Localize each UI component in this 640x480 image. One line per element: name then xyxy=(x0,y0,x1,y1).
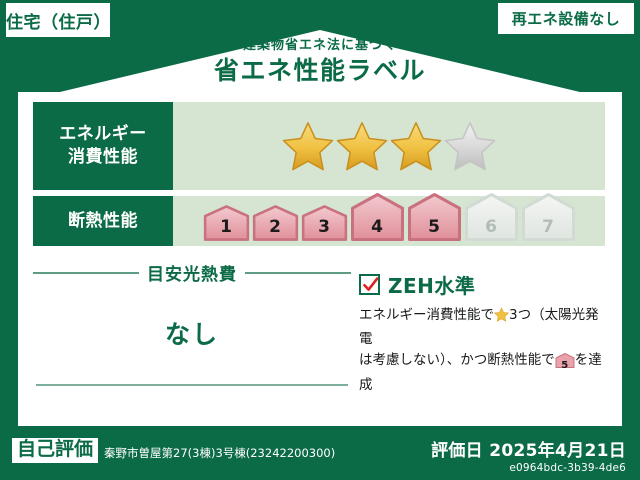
row-insulation-label: 断熱性能 xyxy=(33,196,173,246)
energy-label-root: 住宅（住戸） 再エネ設備なし 建築物省エネ法に基づく 省エネ性能ラベル エネルギ… xyxy=(0,0,640,480)
page-title: 省エネ性能ラベル xyxy=(0,55,640,86)
insulation-level-number: 3 xyxy=(301,217,348,237)
insulation-level-scale: 1234567 xyxy=(203,196,576,246)
utility-cost-heading-text: 目安光熱費 xyxy=(147,260,237,285)
rule-left xyxy=(33,272,139,274)
label-panel: エネルギー 消費性能 断熱性能 1234567 xyxy=(18,92,622,426)
insulation-level-6: 6 xyxy=(464,192,519,242)
zeh-column: ZEH水準 エネルギー消費性能で 3つ（太陽光発電 は考慮しない）、かつ断熱性能… xyxy=(351,256,605,416)
utility-cost-column: 目安光熱費 なし xyxy=(33,256,351,416)
insulation-level-2: 2 xyxy=(252,199,299,242)
zeh-heading: ZEH水準 xyxy=(359,270,605,299)
badge-renewable-equipment: 再エネ設備なし xyxy=(498,3,634,34)
star-filled-icon xyxy=(282,120,334,172)
star-empty-icon xyxy=(444,120,496,172)
insulation-level-number: 2 xyxy=(252,217,299,237)
row-energy-body xyxy=(173,102,605,190)
insulation-level-7: 7 xyxy=(521,192,576,242)
row-insulation-label-line1: 断熱性能 xyxy=(68,210,138,233)
row-energy-performance: エネルギー 消費性能 xyxy=(33,102,605,190)
page-subtitle: 建築物省エネ法に基づく xyxy=(0,38,640,54)
insulation-level-4: 4 xyxy=(350,192,405,242)
zeh-desc-part1: エネルギー消費性能で xyxy=(359,307,494,323)
insulation-level-1: 1 xyxy=(203,199,250,242)
insulation-level-number: 4 xyxy=(350,217,405,237)
insulation-level-3: 3 xyxy=(301,199,348,242)
insulation-level-5: 5 xyxy=(407,192,462,242)
utility-cost-value: なし xyxy=(33,315,351,351)
badge-housing-type: 住宅（住戸） xyxy=(6,3,110,37)
utility-cost-bottom-rule xyxy=(36,384,348,386)
lower-section: 目安光熱費 なし ZEH水準 エネルギー消費性能で xyxy=(33,256,605,416)
footer-right: 評価日 2025年4月21日 e0964bdc-3b39-4de6 xyxy=(431,436,626,474)
building-address: 秦野市曽屋第27(3棟)3号棟(23242200300) xyxy=(104,445,335,463)
row-insulation-performance: 断熱性能 1234567 xyxy=(33,196,605,246)
insulation-level-number: 1 xyxy=(203,217,250,237)
utility-cost-heading: 目安光熱費 xyxy=(33,260,351,285)
self-evaluation-badge: 自己評価 xyxy=(12,438,98,463)
footer: 自己評価 秦野市曽屋第27(3棟)3号棟(23242200300) 評価日 20… xyxy=(0,430,640,480)
evaluation-id: e0964bdc-3b39-4de6 xyxy=(431,462,626,474)
insulation-level-number: 5 xyxy=(407,217,462,237)
zeh-checkbox[interactable] xyxy=(359,274,380,295)
star-filled-icon xyxy=(390,120,442,172)
page-title-block: 建築物省エネ法に基づく 省エネ性能ラベル xyxy=(0,38,640,87)
row-energy-label-line2: 消費性能 xyxy=(68,146,138,169)
star-rating xyxy=(282,120,496,172)
insulation-level-number: 6 xyxy=(464,217,519,237)
zeh-title: ZEH水準 xyxy=(388,270,475,299)
row-insulation-body: 1234567 xyxy=(173,196,605,246)
star-filled-icon xyxy=(336,120,388,172)
rule-right xyxy=(245,272,351,274)
evaluation-date: 評価日 2025年4月21日 xyxy=(431,436,626,461)
footer-left: 自己評価 秦野市曽屋第27(3棟)3号棟(23242200300) xyxy=(12,438,335,463)
insulation-level-number: 7 xyxy=(521,217,576,237)
row-energy-label-line1: エネルギー xyxy=(59,123,147,146)
row-energy-label: エネルギー 消費性能 xyxy=(33,102,173,190)
check-icon xyxy=(362,276,380,294)
inline-star-icon xyxy=(494,307,509,329)
inline-house-icon: 5 xyxy=(555,353,575,375)
zeh-desc-part2: は考慮しない）、かつ断熱性能で xyxy=(359,352,555,368)
zeh-description: エネルギー消費性能で 3つ（太陽光発電 は考慮しない）、かつ断熱性能で 5 を達… xyxy=(359,305,605,396)
inline-house-number: 5 xyxy=(555,358,575,374)
